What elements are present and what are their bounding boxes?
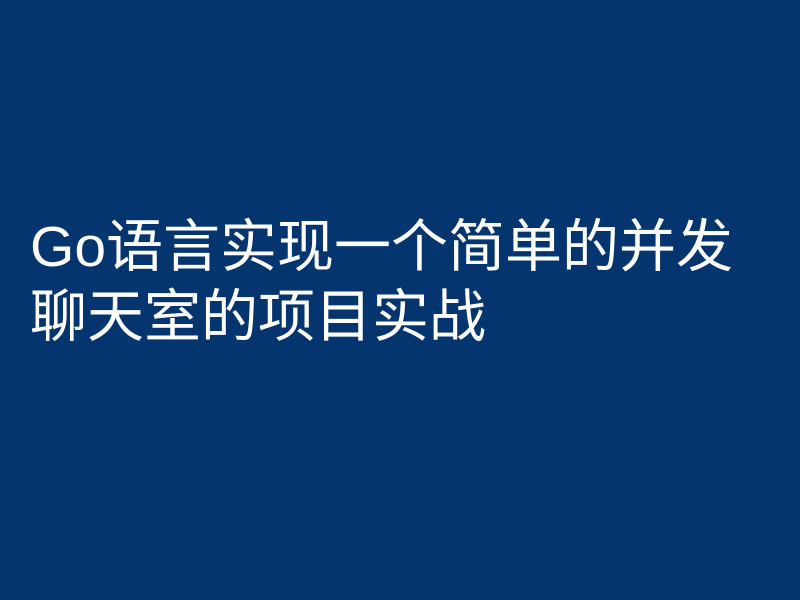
slide-title: Go语言实现一个简单的并发聊天室的项目实战 [30,212,782,352]
title-slide: Go语言实现一个简单的并发聊天室的项目实战 [0,0,800,600]
title-block: Go语言实现一个简单的并发聊天室的项目实战 [30,212,782,352]
